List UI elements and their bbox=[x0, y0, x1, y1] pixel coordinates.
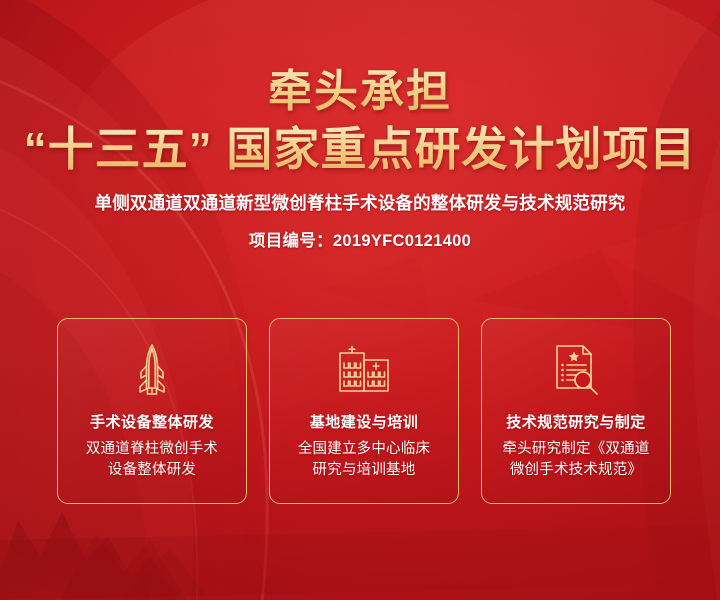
feature-card-list: 手术设备整体研发 双通道脊柱微创手术 设备整体研发 bbox=[57, 318, 671, 504]
title-line-1: 牵头承担 bbox=[0, 68, 720, 116]
poster-banner: 牵头承担 “十三五” 国家重点研发计划项目 单侧双通道双通道新型微创脊柱手术设备… bbox=[0, 0, 720, 600]
feature-card-2[interactable]: 基地建设与培训 全国建立多中心临床 研究与培训基地 bbox=[269, 318, 459, 504]
feature-card-1-desc-line-2: 设备整体研发 bbox=[86, 460, 218, 481]
header-block: 牵头承担 “十三五” 国家重点研发计划项目 单侧双通道双通道新型微创脊柱手术设备… bbox=[0, 68, 720, 251]
feature-card-2-description: 全国建立多中心临床 研究与培训基地 bbox=[298, 439, 430, 481]
feature-card-3-desc-line-2: 微创手术技术规范》 bbox=[503, 460, 650, 481]
feature-card-2-desc-line-2: 研究与培训基地 bbox=[298, 460, 430, 481]
project-subtitle: 单侧双通道双通道新型微创脊柱手术设备的整体研发与技术规范研究 bbox=[0, 190, 720, 215]
feature-card-2-title: 基地建设与培训 bbox=[310, 411, 419, 432]
feature-card-3-desc-line-1: 牵头研究制定《双通道 bbox=[503, 439, 650, 460]
title-line-2: “十三五” 国家重点研发计划项目 bbox=[0, 124, 720, 175]
feature-card-1-title: 手术设备整体研发 bbox=[90, 411, 214, 432]
feature-card-2-desc-line-1: 全国建立多中心临床 bbox=[298, 439, 430, 460]
rocket-icon bbox=[132, 341, 172, 399]
hospital-building-icon bbox=[336, 341, 392, 399]
feature-card-1-desc-line-1: 双通道脊柱微创手术 bbox=[86, 439, 218, 460]
document-search-icon bbox=[550, 341, 602, 399]
project-number: 项目编号：2019YFC0121400 bbox=[0, 227, 720, 251]
feature-card-3-description: 牵头研究制定《双通道 微创手术技术规范》 bbox=[503, 439, 650, 481]
feature-card-1-description: 双通道脊柱微创手术 设备整体研发 bbox=[86, 439, 218, 481]
feature-card-1[interactable]: 手术设备整体研发 双通道脊柱微创手术 设备整体研发 bbox=[57, 318, 247, 504]
feature-card-3-title: 技术规范研究与制定 bbox=[506, 411, 646, 432]
feature-card-3[interactable]: 技术规范研究与制定 牵头研究制定《双通道 微创手术技术规范》 bbox=[481, 318, 671, 504]
